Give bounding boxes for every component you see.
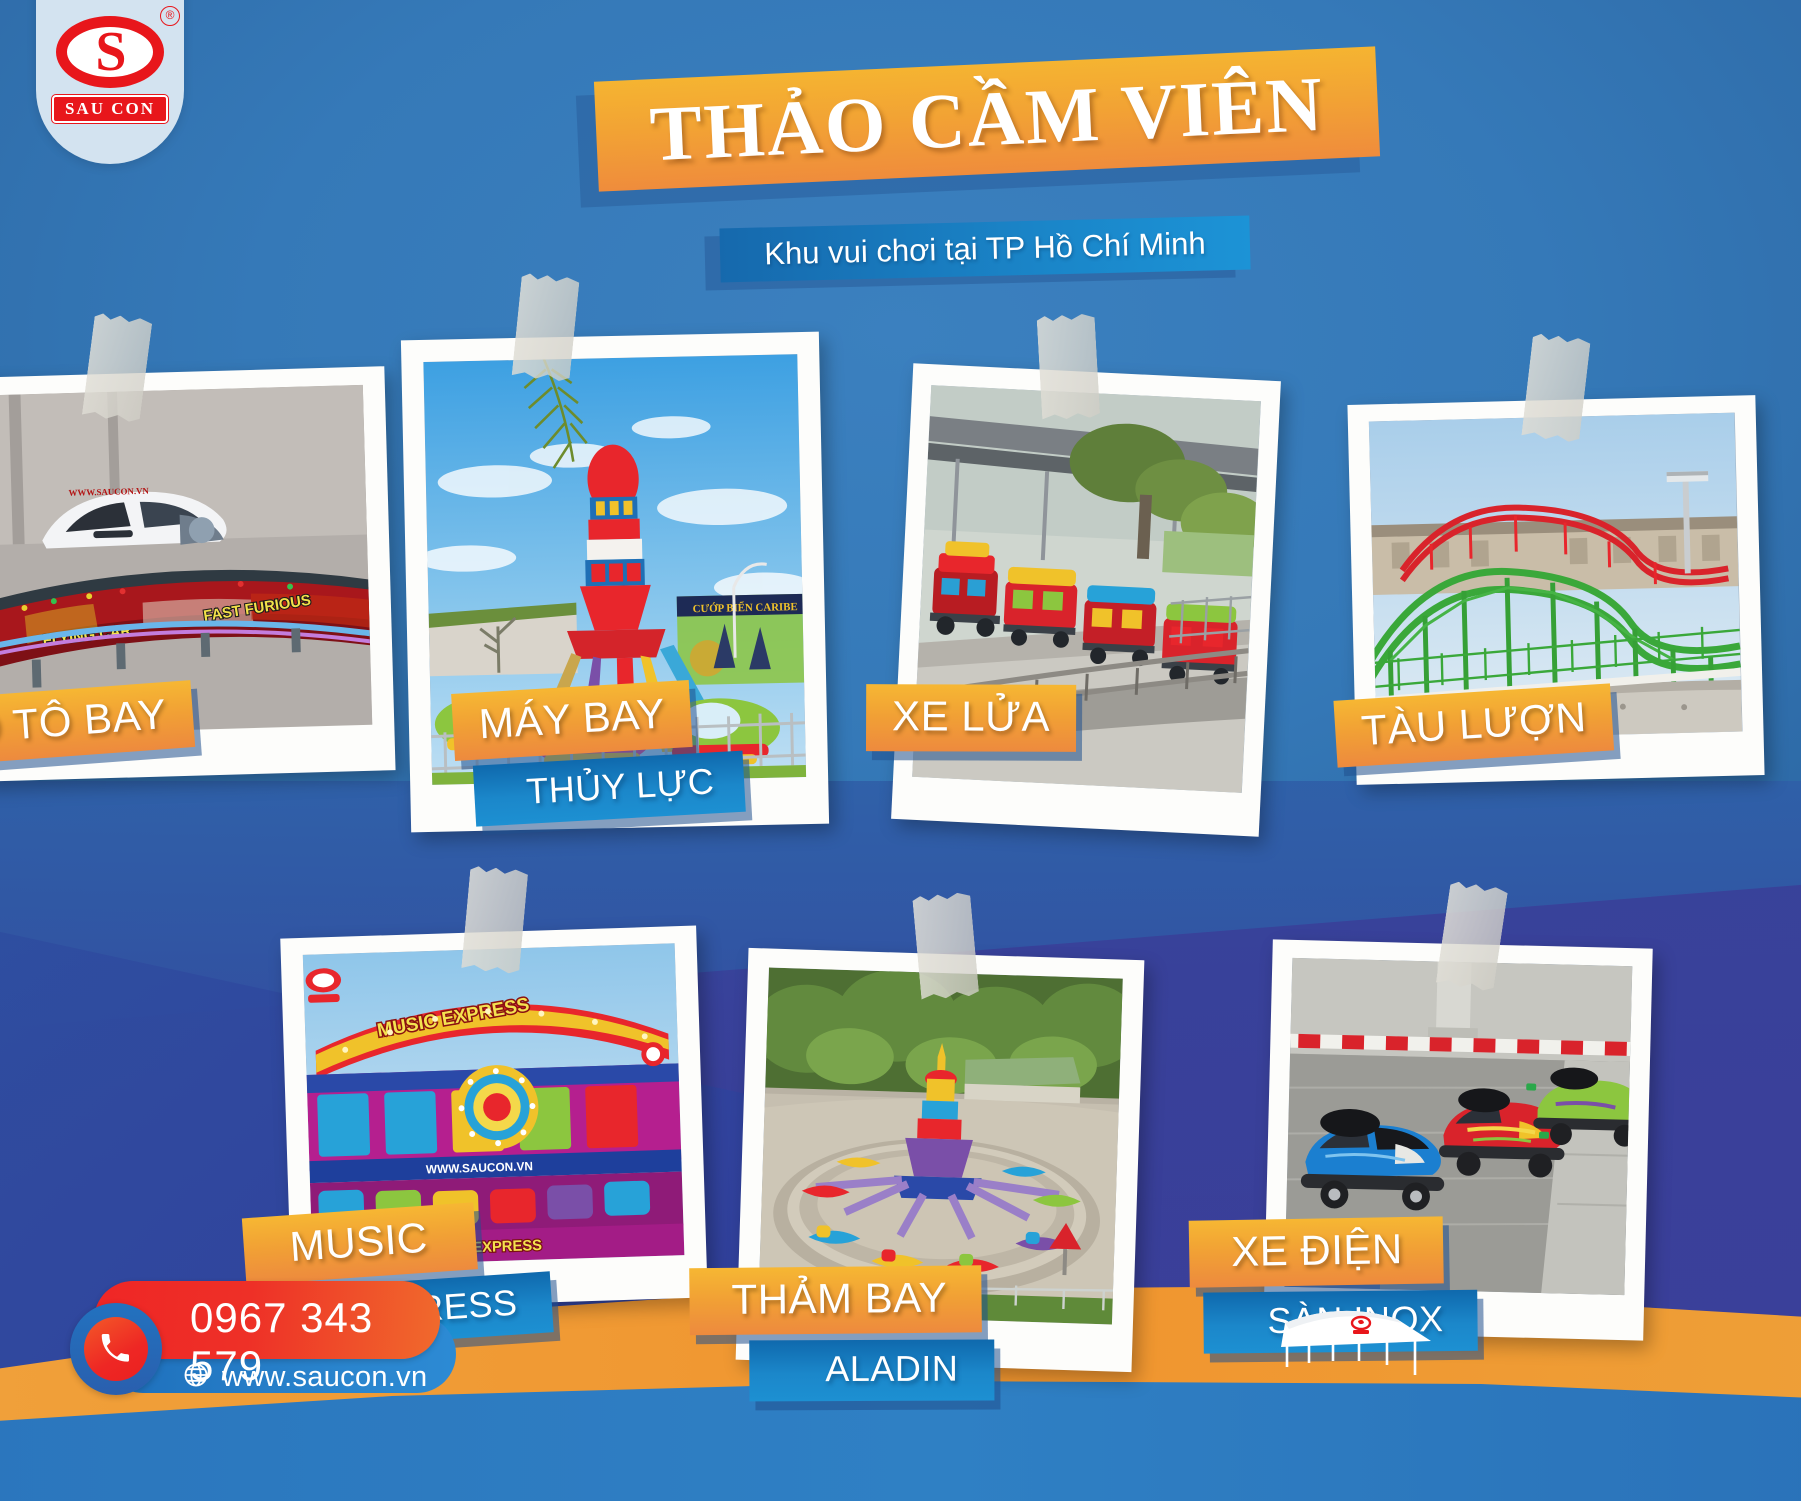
globe-glyph xyxy=(182,1361,210,1389)
card-title: MÁY BAY xyxy=(478,689,667,748)
card-title: THẢM BAY xyxy=(731,1274,947,1324)
photo-card-tau-luon[interactable]: TÀU LƯỢN xyxy=(1347,395,1764,785)
card-sublabel-aladin: ALADIN xyxy=(749,1340,994,1402)
card-title: MUSIC xyxy=(288,1214,429,1271)
phone-glyph xyxy=(97,1330,135,1368)
globe-icon xyxy=(182,1361,210,1394)
poster-header: THẢO CẦM VIÊN Khu vui chơi tại TP Hồ Chí… xyxy=(0,0,1801,320)
photo-card-may-bay[interactable]: CƯỚP BIỂN CARIBE xyxy=(401,332,829,833)
photo-card-tham-bay[interactable]: THẢM BAY THẢM BAY ALADIN xyxy=(736,948,1145,1372)
tent-canopy-art xyxy=(1251,1289,1471,1389)
contact-block: 0967 343 579 www.saucon.vn xyxy=(70,1281,490,1409)
tape-strip-top xyxy=(512,273,580,382)
card-title: Ô TÔ BAY xyxy=(0,690,168,752)
label-body: MÁY BAY xyxy=(451,680,693,761)
photo-card-music-express[interactable]: MUSIC EXPRESS WWW.SAUCON.VN xyxy=(280,926,707,1311)
card-label-tham-bay: THẢM BAY xyxy=(689,1265,981,1335)
page-subtitle: Khu vui chơi tại TP Hồ Chí Minh xyxy=(764,226,1206,273)
card-title: TÀU LƯỢN xyxy=(1360,693,1588,755)
card-title: XE ĐIỆN xyxy=(1231,1225,1403,1276)
phone-icon[interactable] xyxy=(70,1303,162,1395)
tent-canopy-icon xyxy=(1251,1289,1471,1389)
photo-card-xe-dien[interactable]: XE ĐIỆN SÀN INOX xyxy=(1263,939,1652,1340)
phone-icon-inner xyxy=(84,1317,148,1381)
card-label-may-bay: MÁY BAY xyxy=(451,680,693,761)
photo-card-o-to-bay[interactable]: WWW.SAUCON.VN FLYING CAR FAST FURIOUS xyxy=(0,366,396,782)
tape-strip-top xyxy=(1037,313,1101,420)
page-title: THẢO CẦM VIÊN xyxy=(648,59,1326,180)
card-label-o-to-bay: Ô TÔ BAY xyxy=(0,680,195,765)
tape-strip-top xyxy=(1521,333,1591,443)
card-subtitle: ALADIN xyxy=(825,1348,958,1390)
website-url: www.saucon.vn xyxy=(222,1361,427,1394)
card-label-xe-dien: XE ĐIỆN xyxy=(1189,1216,1444,1287)
tape-strip-top xyxy=(461,865,528,974)
card-subtitle: THỦY LỰC xyxy=(525,760,715,812)
card-label-xe-lua: XE LỬA xyxy=(866,684,1076,752)
website-row[interactable]: www.saucon.vn xyxy=(182,1361,427,1394)
tape-strip-top xyxy=(912,892,979,1001)
label-body: XE ĐIỆN xyxy=(1189,1216,1444,1287)
label-body: ALADIN xyxy=(749,1340,994,1402)
label-body: THẢM BAY xyxy=(689,1265,981,1335)
svg-text:CƯỚP BIỂN CARIBE: CƯỚP BIỂN CARIBE xyxy=(692,600,797,615)
label-body: XE LỬA xyxy=(866,684,1076,752)
card-title: XE LỬA xyxy=(892,692,1050,741)
photo-card-xe-lua[interactable]: XE LỬA xyxy=(891,363,1281,836)
